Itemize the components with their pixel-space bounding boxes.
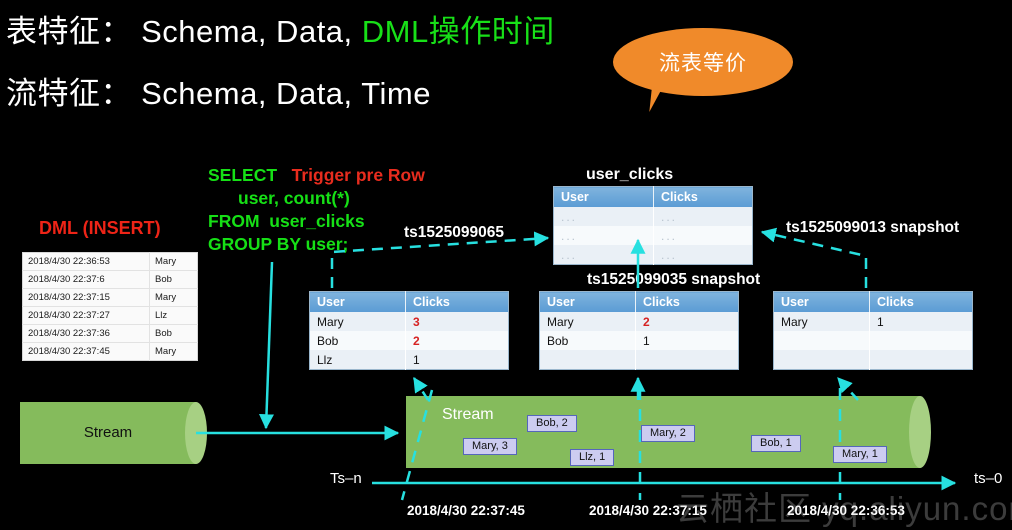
sql-query-block: SELECT Trigger pre Row user, count(*) FR… <box>208 164 425 256</box>
clicks-cell: 2 <box>406 331 509 350</box>
dml-insert-label: DML (INSERT) <box>39 218 161 239</box>
sql-trigger-note: Trigger pre Row <box>292 165 425 185</box>
table-row: 2018/4/30 22:37:36Bob <box>23 325 198 343</box>
dml-user-cell: Mary <box>150 289 198 307</box>
slide-canvas: 表特征： Schema, Data, DML操作时间 流特征： Schema, … <box>0 0 1012 530</box>
dml-insert-table: 2018/4/30 22:36:53Mary2018/4/30 22:37:6B… <box>22 252 198 361</box>
table-row <box>774 331 973 350</box>
speech-bubble-label: 流表等价 <box>659 47 747 77</box>
stream-event-box: Bob, 2 <box>527 415 577 432</box>
snapshot-latest-label: ts1525099065 <box>404 224 504 242</box>
user-cell: Bob <box>540 331 636 350</box>
dml-timestamp-cell: 2018/4/30 22:37:27 <box>23 307 150 325</box>
dml-time-highlight: DML操作时间 <box>362 14 555 49</box>
clicks-cell <box>870 350 973 369</box>
snapshot-mid-label: ts1525099035 snapshot <box>587 271 760 289</box>
table-row: 2018/4/30 22:36:53Mary <box>23 253 198 271</box>
table-row: Bob2 <box>310 331 509 350</box>
stream-event-box: Mary, 2 <box>641 425 695 442</box>
col-header-user: User <box>554 187 654 208</box>
table-row: ...... <box>554 207 753 226</box>
col-header-clicks: Clicks <box>654 187 753 208</box>
col-header-user: User <box>310 292 406 313</box>
snapshot-early-table: UserClicks Mary1 <box>773 291 973 370</box>
dml-timestamp-cell: 2018/4/30 22:37:15 <box>23 289 150 307</box>
table-row: 2018/4/30 22:37:27Llz <box>23 307 198 325</box>
user-clicks-table: UserClicks .................. <box>553 186 753 265</box>
sql-line-3: FROM user_clicks <box>208 210 425 233</box>
table-row: Mary3 <box>310 312 509 331</box>
speech-bubble: 流表等价 <box>613 28 793 124</box>
dml-timestamp-cell: 2018/4/30 22:37:6 <box>23 271 150 289</box>
dashed-t3-to-userclicks <box>762 232 866 288</box>
stream-characteristics-line: 流特征： Schema, Data, Time <box>6 68 431 113</box>
stream-cylinder-left: Stream <box>20 402 196 464</box>
col-header-clicks: Clicks <box>636 292 739 313</box>
user-cell: Bob <box>310 331 406 350</box>
dml-user-cell: Mary <box>150 253 198 271</box>
stream-event-box: Bob, 1 <box>751 435 801 452</box>
table-row <box>540 350 739 369</box>
clicks-cell <box>636 350 739 369</box>
col-header-clicks: Clicks <box>870 292 973 313</box>
user-clicks-title: user_clicks <box>586 166 673 184</box>
sql-projection: user, count(*) <box>238 188 350 208</box>
clicks-cell: 1 <box>636 331 739 350</box>
user-cell: Mary <box>310 312 406 331</box>
sql-from-keyword: FROM <box>208 211 260 231</box>
user-cell <box>774 350 870 369</box>
clicks-cell: 2 <box>636 312 739 331</box>
sql-line-4: GROUP BY user; <box>208 233 425 256</box>
table-row: ...... <box>554 226 753 245</box>
table-row: 2018/4/30 22:37:6Bob <box>23 271 198 289</box>
dml-user-cell: Llz <box>150 307 198 325</box>
table-row: Mary2 <box>540 312 739 331</box>
dml-user-cell: Mary <box>150 343 198 361</box>
timeline-stamp-1: 2018/4/30 22:37:45 <box>407 503 525 518</box>
cylinder-cap <box>909 396 931 468</box>
table-row: Bob1 <box>540 331 739 350</box>
dml-user-cell: Bob <box>150 271 198 289</box>
clicks-cell: 1 <box>870 312 973 331</box>
user-cell <box>774 331 870 350</box>
sql-groupby: GROUP BY user; <box>208 234 348 254</box>
user-cell: ... <box>554 207 654 226</box>
speech-bubble-body: 流表等价 <box>613 28 793 96</box>
dml-timestamp-cell: 2018/4/30 22:36:53 <box>23 253 150 271</box>
stream-event-box: Llz, 1 <box>570 449 614 466</box>
user-cell: Mary <box>540 312 636 331</box>
table-row: 2018/4/30 22:37:45Mary <box>23 343 198 361</box>
sql-from-table: user_clicks <box>269 211 364 231</box>
clicks-cell: ... <box>654 226 753 245</box>
snapshot-mid-table: UserClicks Mary2Bob1 <box>539 291 739 370</box>
table-characteristics-text: 表特征： Schema, Data, <box>6 14 362 49</box>
clicks-cell <box>870 331 973 350</box>
table-characteristics-line: 表特征： Schema, Data, DML操作时间 <box>6 6 555 51</box>
snapshot-latest-table: UserClicks Mary3Bob2Llz1 <box>309 291 509 370</box>
sql-line-2: user, count(*) <box>208 187 425 210</box>
user-cell: ... <box>554 226 654 245</box>
table-row: Mary1 <box>774 312 973 331</box>
col-header-user: User <box>774 292 870 313</box>
dml-timestamp-cell: 2018/4/30 22:37:36 <box>23 325 150 343</box>
stream-right-label: Stream <box>442 406 494 424</box>
stream-event-box: Mary, 3 <box>463 438 517 455</box>
snapshot-early-label: ts1525099013 snapshot <box>786 219 959 237</box>
col-header-clicks: Clicks <box>406 292 509 313</box>
clicks-cell: ... <box>654 245 753 265</box>
sql-line-1: SELECT Trigger pre Row <box>208 164 425 187</box>
col-header-user: User <box>540 292 636 313</box>
sql-select-keyword: SELECT <box>208 165 277 185</box>
watermark: 云栖社区 yq.aliyun.com <box>676 482 1012 530</box>
user-cell <box>540 350 636 369</box>
stream-left-label: Stream <box>20 424 196 441</box>
table-row: 2018/4/30 22:37:15Mary <box>23 289 198 307</box>
user-cell: Mary <box>774 312 870 331</box>
clicks-cell: ... <box>654 207 753 226</box>
sql-to-stream-arrow <box>266 262 272 428</box>
table-row: Llz1 <box>310 350 509 370</box>
dml-user-cell: Bob <box>150 325 198 343</box>
clicks-cell: 3 <box>406 312 509 331</box>
table-row <box>774 350 973 369</box>
timeline-start-label: Ts–n <box>330 470 362 487</box>
user-cell: Llz <box>310 350 406 370</box>
clicks-cell: 1 <box>406 350 509 370</box>
dml-timestamp-cell: 2018/4/30 22:37:45 <box>23 343 150 361</box>
table-row: ...... <box>554 245 753 265</box>
stream-event-box: Mary, 1 <box>833 446 887 463</box>
user-cell: ... <box>554 245 654 265</box>
